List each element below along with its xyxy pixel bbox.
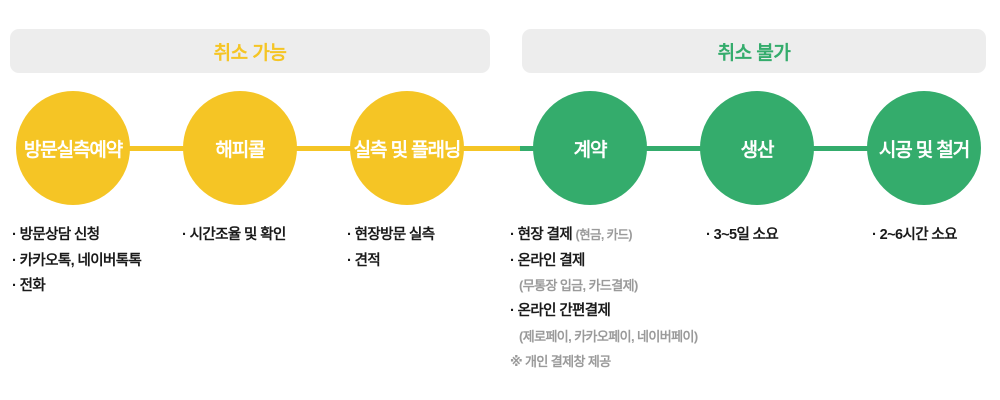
bullet-dot-icon: · [347, 227, 351, 243]
bullet-dot-icon: · [12, 253, 16, 269]
step-circle-4[interactable]: 계약 [533, 91, 647, 205]
detail-item: · 견적 [347, 254, 435, 269]
detail-list-step-6: · 2~6시간 소요 [872, 228, 957, 254]
step-circle-2[interactable]: 해피콜 [183, 91, 297, 205]
detail-item: · 시간조율 및 확인 [182, 228, 286, 243]
detail-item-label: 견적 [355, 253, 380, 269]
bullet-dot-icon: · [182, 227, 186, 243]
detail-item: · 2~6시간 소요 [872, 228, 957, 243]
detail-item-label: 3~5일 소요 [714, 227, 778, 243]
section-header-cancelable-label: 취소 가능 [214, 38, 287, 65]
bullet-dot-icon: · [347, 253, 351, 269]
bullet-dot-icon: · [12, 227, 16, 243]
step-circle-5[interactable]: 생산 [700, 91, 814, 205]
bullet-dot-icon: · [12, 278, 16, 294]
step-circle-6-label: 시공 및 철거 [879, 135, 969, 162]
step-circle-2-label: 해피콜 [215, 135, 264, 162]
step-circle-1-label: 방문실측예약 [24, 135, 122, 162]
detail-list-step-5: · 3~5일 소요 [706, 228, 778, 254]
step-circle-6[interactable]: 시공 및 철거 [867, 91, 981, 205]
bullet-dot-icon: · [706, 227, 710, 243]
detail-item: · 3~5일 소요 [706, 228, 778, 243]
bullet-dot-icon: · [510, 303, 514, 319]
process-flow-diagram: 취소 가능 취소 불가 방문실측예약 해피콜 실측 및 플래닝 계약 생산 시공… [0, 0, 1000, 400]
detail-subitem: (제로페이, 카카오페이, 네이버페이) [510, 330, 698, 343]
detail-item-label: 전화 [20, 278, 45, 294]
step-circle-3[interactable]: 실측 및 플래닝 [350, 91, 464, 205]
detail-item-label: 현장 결제 [518, 227, 572, 243]
detail-item-label: 현장방문 실측 [355, 227, 435, 243]
section-header-cancelable: 취소 가능 [10, 29, 490, 73]
detail-item: · 전화 [12, 279, 141, 294]
step-circle-3-label: 실측 및 플래닝 [354, 135, 461, 162]
step-circle-4-label: 계약 [574, 135, 607, 162]
bullet-dot-icon: · [510, 253, 514, 269]
detail-list-step-3: · 현장방문 실측· 견적 [347, 228, 435, 279]
detail-item-sublabel: (현금, 카드) [576, 228, 632, 242]
detail-list-step-1: · 방문상담 신청· 카카오톡, 네이버톡톡· 전화 [12, 228, 141, 305]
section-header-non-cancelable: 취소 불가 [522, 29, 986, 73]
bullet-dot-icon: · [872, 227, 876, 243]
detail-item: · 방문상담 신청 [12, 228, 141, 243]
detail-item: · 온라인 결제 [510, 254, 698, 269]
detail-item-label: 시간조율 및 확인 [190, 227, 286, 243]
detail-item-label: 방문상담 신청 [20, 227, 100, 243]
detail-item: · 온라인 간편결제 [510, 304, 698, 319]
detail-item-label: 카카오톡, 네이버톡톡 [20, 253, 142, 269]
bullet-dot-icon: · [510, 227, 514, 243]
detail-list-step-4: · 현장 결제 (현금, 카드)· 온라인 결제(무통장 입금, 카드결제)· … [510, 228, 698, 368]
detail-item-label: 2~6시간 소요 [880, 227, 957, 243]
detail-subitem: (무통장 입금, 카드결제) [510, 279, 698, 292]
detail-item-label: 온라인 간편결제 [518, 303, 611, 319]
detail-item: · 카카오톡, 네이버톡톡 [12, 254, 141, 269]
detail-item-label: 온라인 결제 [518, 253, 585, 269]
detail-item: · 현장 결제 (현금, 카드) [510, 228, 698, 243]
section-header-non-cancelable-label: 취소 불가 [718, 38, 791, 65]
detail-item: · 현장방문 실측 [347, 228, 435, 243]
step-circle-1[interactable]: 방문실측예약 [16, 91, 130, 205]
detail-note: ※ 개인 결제창 제공 [510, 355, 698, 368]
detail-list-step-2: · 시간조율 및 확인 [182, 228, 286, 254]
step-circle-5-label: 생산 [741, 135, 774, 162]
